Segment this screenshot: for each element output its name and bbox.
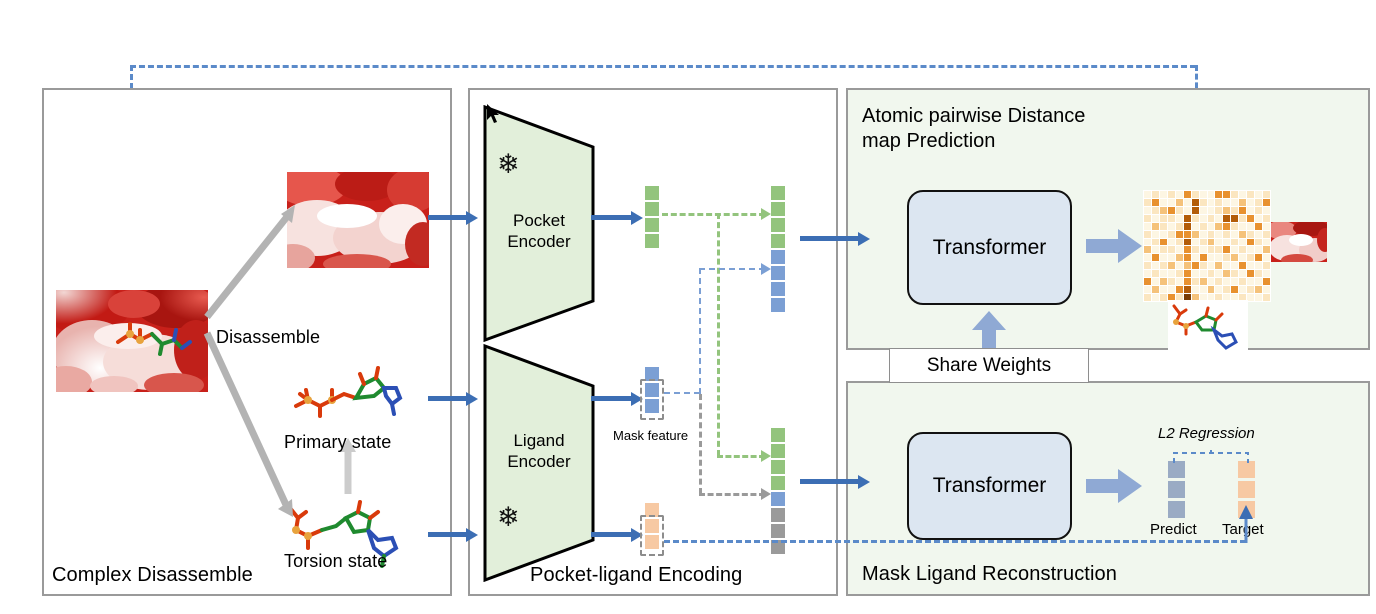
- heatmap-cell: [1144, 239, 1151, 246]
- heatmap-cell: [1231, 278, 1238, 285]
- heatmap-cell: [1215, 270, 1222, 277]
- heatmap-cell: [1176, 199, 1183, 206]
- heatmap-cell: [1208, 278, 1215, 285]
- heatmap-cell: [1184, 246, 1191, 253]
- l2-regression-bracket: [1170, 447, 1252, 465]
- heatmap-cell: [1247, 246, 1254, 253]
- dash-arrowhead: [761, 208, 771, 220]
- heatmap-cell: [1152, 254, 1159, 261]
- heatmap-cell: [1255, 278, 1262, 285]
- heatmap-cell: [1263, 270, 1270, 277]
- heatmap-cell: [1247, 286, 1254, 293]
- heatmap-cell: [1223, 270, 1230, 277]
- heatmap-cell: [1200, 270, 1207, 277]
- heatmap-cell: [1263, 262, 1270, 269]
- heatmap-cell: [1160, 215, 1167, 222]
- predict-stack: [1168, 461, 1185, 521]
- heatmap-cell: [1168, 215, 1175, 222]
- heatmap-cell: [1176, 231, 1183, 238]
- heatmap-cell: [1144, 294, 1151, 301]
- heatmap-cell: [1215, 239, 1222, 246]
- heatmap-cell: [1176, 254, 1183, 261]
- heatmap-cell: [1247, 231, 1254, 238]
- heatmap-cell: [1168, 223, 1175, 230]
- heatmap-cell: [1200, 262, 1207, 269]
- heatmap-cell: [1247, 215, 1254, 222]
- heatmap-cell: [1144, 191, 1151, 198]
- panel-complex-disassemble-label: Complex Disassemble: [52, 564, 253, 587]
- dash-gray-vertical: [699, 394, 702, 494]
- heatmap-cell: [1263, 254, 1270, 261]
- heatmap-cell: [1263, 278, 1270, 285]
- heatmap-cell: [1231, 270, 1238, 277]
- heatmap-cell: [1263, 223, 1270, 230]
- distance-transformer-label: Transformer: [933, 236, 1047, 260]
- heatmap-cell: [1231, 207, 1238, 214]
- heatmap-cell: [1208, 215, 1215, 222]
- arrow-transformer-to-predict: [1086, 468, 1142, 504]
- predict-token: [1168, 481, 1185, 498]
- feature-token: [771, 476, 785, 490]
- heatmap-cell: [1160, 294, 1167, 301]
- heatmap-cell: [1223, 286, 1230, 293]
- heatmap-cell: [1255, 286, 1262, 293]
- heatmap-cell: [1144, 262, 1151, 269]
- heatmap-cell: [1152, 215, 1159, 222]
- heatmap-cell: [1160, 199, 1167, 206]
- heatmap-cell: [1200, 215, 1207, 222]
- heatmap-cell: [1239, 223, 1246, 230]
- heatmap-cell: [1168, 254, 1175, 261]
- feature-token: [645, 218, 659, 232]
- heatmap-cell: [1223, 239, 1230, 246]
- heatmap-cell: [1239, 215, 1246, 222]
- heatmap-cell: [1144, 286, 1151, 293]
- heatmap-cell: [1184, 215, 1191, 222]
- heatmap-cell: [1223, 223, 1230, 230]
- heatmap-cell: [1255, 207, 1262, 214]
- dash-mask-to-distance: [699, 268, 765, 270]
- feature-token: [771, 218, 785, 232]
- heatmap-cell: [1231, 191, 1238, 198]
- feature-token: [771, 524, 785, 538]
- snowflake-icon: ❄: [497, 504, 520, 531]
- ligand-encoder-label: Ligand Encoder: [483, 430, 595, 472]
- heatmap-cell: [1247, 223, 1254, 230]
- heatmap-cell: [1184, 278, 1191, 285]
- heatmap-cell: [1192, 191, 1199, 198]
- heatmap-cell: [1255, 246, 1262, 253]
- heatmap-cell: [1239, 246, 1246, 253]
- heatmap-cell: [1215, 231, 1222, 238]
- disassemble-label: Disassemble: [216, 327, 320, 348]
- heatmap-cell: [1255, 262, 1262, 269]
- heatmap-cell: [1168, 246, 1175, 253]
- heatmap-cell: [1200, 207, 1207, 214]
- heatmap-cell: [1200, 239, 1207, 246]
- heatmap-cell: [1192, 199, 1199, 206]
- heatmap-cell: [1231, 215, 1238, 222]
- ligand-encoder[interactable]: Ligand Encoder ❄: [483, 342, 595, 582]
- pocket-encoder-label: Pocket Encoder: [483, 210, 595, 252]
- heatmap-cell: [1184, 270, 1191, 277]
- mask-feature-label: Mask feature: [613, 428, 688, 443]
- pocket-encoder[interactable]: ❄ Pocket Encoder: [483, 105, 595, 342]
- heatmap-cell: [1144, 231, 1151, 238]
- heatmap-cell: [1208, 191, 1215, 198]
- heatmap-cell: [1247, 207, 1254, 214]
- heatmap-cell: [1168, 191, 1175, 198]
- heatmap-cell: [1176, 278, 1183, 285]
- share-weights-box: Share Weights: [889, 348, 1089, 383]
- dash-pocket-to-reconstruction: [717, 455, 765, 458]
- heatmap-cell: [1200, 191, 1207, 198]
- feature-token: [771, 444, 785, 458]
- heatmap-cell: [1208, 254, 1215, 261]
- heatmap-cell: [1215, 215, 1222, 222]
- heatmap-cell: [1215, 278, 1222, 285]
- primary-state-ligand: [288, 362, 408, 434]
- heatmap-cell: [1152, 270, 1159, 277]
- torsion-feature-outline: [640, 515, 664, 556]
- heatmap-cell: [1184, 223, 1191, 230]
- heatmap-cell: [1152, 207, 1159, 214]
- heatmap-cell: [1247, 294, 1254, 301]
- heatmap-cell: [1231, 199, 1238, 206]
- heatmap-cell: [1160, 246, 1167, 253]
- heatmap-cell: [1263, 294, 1270, 301]
- heatmap-cell: [1152, 231, 1159, 238]
- heatmap-cell: [1215, 199, 1222, 206]
- ligand-thumbnail: [1168, 300, 1248, 352]
- arrow-share-weights-up: [972, 311, 1006, 349]
- heatmap-cell: [1192, 286, 1199, 293]
- heatmap-cell: [1239, 191, 1246, 198]
- heatmap-cell: [1223, 231, 1230, 238]
- heatmap-cell: [1184, 286, 1191, 293]
- heatmap-cell: [1255, 294, 1262, 301]
- figure-canvas: Complex Disassemble: [0, 0, 1376, 614]
- pocket-thumbnail: [1271, 222, 1327, 262]
- heatmap-cell: [1184, 254, 1191, 261]
- feature-token: [771, 266, 785, 280]
- dash-arrowhead: [761, 488, 771, 500]
- pocket-feature-stack: [645, 186, 659, 250]
- feature-token: [645, 234, 659, 248]
- heatmap-cell: [1255, 223, 1262, 230]
- predict-token: [1168, 501, 1185, 518]
- heatmap-cell: [1263, 246, 1270, 253]
- panel-distance-map-prediction-title: Atomic pairwise Distance map Prediction: [862, 104, 1182, 154]
- feature-token: [771, 460, 785, 474]
- heatmap-cell: [1192, 239, 1199, 246]
- heatmap-cell: [1160, 191, 1167, 198]
- heatmap-cell: [1176, 286, 1183, 293]
- heatmap-cell: [1223, 191, 1230, 198]
- heatmap-cell: [1208, 223, 1215, 230]
- heatmap-cell: [1255, 254, 1262, 261]
- heatmap-cell: [1168, 278, 1175, 285]
- heatmap-cell: [1223, 246, 1230, 253]
- heatmap-cell: [1263, 215, 1270, 222]
- panel-mask-ligand-reconstruction-label: Mask Ligand Reconstruction: [862, 563, 1117, 586]
- heatmap-cell: [1208, 246, 1215, 253]
- heatmap-cell: [1255, 215, 1262, 222]
- heatmap-cell: [1184, 191, 1191, 198]
- heatmap-cell: [1255, 191, 1262, 198]
- feature-token: [771, 298, 785, 312]
- heatmap-cell: [1239, 270, 1246, 277]
- target-token: [1238, 481, 1255, 498]
- disassemble-arrow-up: [195, 195, 305, 325]
- heatmap-cell: [1168, 286, 1175, 293]
- heatmap-cell: [1200, 223, 1207, 230]
- heatmap-cell: [1200, 286, 1207, 293]
- heatmap-cell: [1200, 246, 1207, 253]
- dash-mask-riser: [699, 268, 701, 394]
- heatmap-cell: [1144, 199, 1151, 206]
- heatmap-cell: [1255, 239, 1262, 246]
- feature-token: [645, 202, 659, 216]
- heatmap-cell: [1160, 270, 1167, 277]
- heatmap-cell: [1215, 262, 1222, 269]
- heatmap-cell: [1168, 239, 1175, 246]
- feature-token: [771, 250, 785, 264]
- heatmap-cell: [1255, 231, 1262, 238]
- heatmap-cell: [1215, 246, 1222, 253]
- feedback-dash-top-horizontal: [130, 65, 1196, 68]
- heatmap-cell: [1231, 254, 1238, 261]
- heatmap-cell: [1176, 262, 1183, 269]
- feature-token: [771, 428, 785, 442]
- heatmap-cell: [1263, 239, 1270, 246]
- heatmap-cell: [1239, 207, 1246, 214]
- primary-state-label: Primary state: [284, 432, 391, 453]
- distance-map-heatmap: [1143, 190, 1271, 302]
- heatmap-cell: [1247, 262, 1254, 269]
- heatmap-cell: [1152, 199, 1159, 206]
- heatmap-cell: [1223, 278, 1230, 285]
- heatmap-cell: [1176, 215, 1183, 222]
- heatmap-cell: [1215, 286, 1222, 293]
- heatmap-cell: [1208, 199, 1215, 206]
- feature-token: [771, 202, 785, 216]
- heatmap-cell: [1231, 231, 1238, 238]
- dash-mask-to-riser: [664, 392, 700, 394]
- heatmap-cell: [1168, 262, 1175, 269]
- heatmap-cell: [1160, 286, 1167, 293]
- heatmap-cell: [1215, 254, 1222, 261]
- heatmap-cell: [1223, 207, 1230, 214]
- torsion-state-label: Torsion state: [284, 551, 387, 572]
- feature-token: [771, 282, 785, 296]
- dash-pocket-to-distance: [662, 213, 765, 216]
- heatmap-cell: [1152, 191, 1159, 198]
- heatmap-cell: [1231, 286, 1238, 293]
- heatmap-cell: [1247, 191, 1254, 198]
- heatmap-cell: [1168, 207, 1175, 214]
- feature-token: [645, 186, 659, 200]
- heatmap-cell: [1152, 286, 1159, 293]
- dash-gray-to-reconstruction: [699, 493, 765, 496]
- heatmap-cell: [1184, 262, 1191, 269]
- heatmap-cell: [1192, 270, 1199, 277]
- heatmap-cell: [1160, 223, 1167, 230]
- dash-pocket-branch-vertical: [717, 213, 720, 456]
- heatmap-cell: [1152, 278, 1159, 285]
- heatmap-cell: [1223, 262, 1230, 269]
- heatmap-cell: [1152, 294, 1159, 301]
- heatmap-cell: [1168, 270, 1175, 277]
- heatmap-cell: [1192, 246, 1199, 253]
- heatmap-cell: [1176, 239, 1183, 246]
- heatmap-cell: [1231, 246, 1238, 253]
- heatmap-cell: [1255, 199, 1262, 206]
- dash-target-arrow: [1239, 505, 1253, 543]
- heatmap-cell: [1247, 278, 1254, 285]
- heatmap-cell: [1215, 223, 1222, 230]
- heatmap-cell: [1192, 231, 1199, 238]
- heatmap-cell: [1200, 254, 1207, 261]
- snowflake-icon: ❄: [497, 151, 520, 178]
- disassemble-arrow-down: [195, 325, 305, 525]
- reconstruction-transformer[interactable]: Transformer: [907, 432, 1072, 540]
- arrow-transformer-to-heatmap: [1086, 228, 1142, 264]
- predict-label: Predict: [1150, 521, 1197, 538]
- heatmap-cell: [1152, 223, 1159, 230]
- heatmap-cell: [1239, 262, 1246, 269]
- heatmap-cell: [1239, 199, 1246, 206]
- heatmap-cell: [1160, 239, 1167, 246]
- heatmap-cell: [1152, 262, 1159, 269]
- heatmap-cell: [1152, 239, 1159, 246]
- heatmap-cell: [1144, 215, 1151, 222]
- heatmap-cell: [1192, 262, 1199, 269]
- heatmap-cell: [1168, 231, 1175, 238]
- heatmap-cell: [1160, 278, 1167, 285]
- feature-token: [771, 508, 785, 522]
- heatmap-cell: [1200, 199, 1207, 206]
- dash-arrowhead: [761, 263, 771, 275]
- heatmap-cell: [1152, 246, 1159, 253]
- mask-feature-outline: [640, 379, 664, 420]
- feature-token: [771, 186, 785, 200]
- heatmap-cell: [1192, 278, 1199, 285]
- heatmap-cell: [1144, 246, 1151, 253]
- heatmap-cell: [1176, 223, 1183, 230]
- heatmap-cell: [1168, 199, 1175, 206]
- pocket-image: [287, 172, 429, 268]
- heatmap-cell: [1263, 286, 1270, 293]
- heatmap-cell: [1263, 231, 1270, 238]
- heatmap-cell: [1231, 239, 1238, 246]
- heatmap-cell: [1184, 231, 1191, 238]
- heatmap-cell: [1263, 191, 1270, 198]
- heatmap-cell: [1215, 207, 1222, 214]
- mouse-cursor: [487, 104, 501, 124]
- heatmap-cell: [1192, 254, 1199, 261]
- heatmap-cell: [1247, 239, 1254, 246]
- heatmap-cell: [1184, 239, 1191, 246]
- heatmap-cell: [1144, 207, 1151, 214]
- heatmap-cell: [1144, 223, 1151, 230]
- heatmap-cell: [1160, 207, 1167, 214]
- feature-token: [771, 234, 785, 248]
- heatmap-cell: [1231, 262, 1238, 269]
- heatmap-cell: [1176, 191, 1183, 198]
- heatmap-cell: [1231, 223, 1238, 230]
- heatmap-cell: [1192, 215, 1199, 222]
- distance-input-stack: [771, 186, 785, 314]
- heatmap-cell: [1208, 270, 1215, 277]
- heatmap-cell: [1239, 231, 1246, 238]
- feature-token: [771, 492, 785, 506]
- heatmap-cell: [1239, 239, 1246, 246]
- heatmap-cell: [1176, 207, 1183, 214]
- heatmap-cell: [1239, 286, 1246, 293]
- heatmap-cell: [1160, 231, 1167, 238]
- heatmap-cell: [1239, 254, 1246, 261]
- l2-regression-label: L2 Regression: [1158, 425, 1255, 442]
- heatmap-cell: [1215, 191, 1222, 198]
- reconstruction-input-stack: [771, 428, 785, 556]
- heatmap-cell: [1255, 270, 1262, 277]
- heatmap-cell: [1144, 278, 1151, 285]
- heatmap-cell: [1192, 223, 1199, 230]
- heatmap-cell: [1144, 254, 1151, 261]
- heatmap-cell: [1208, 286, 1215, 293]
- heatmap-cell: [1208, 239, 1215, 246]
- heatmap-cell: [1223, 199, 1230, 206]
- heatmap-cell: [1160, 262, 1167, 269]
- distance-transformer[interactable]: Transformer: [907, 190, 1072, 305]
- heatmap-cell: [1184, 199, 1191, 206]
- heatmap-cell: [1192, 207, 1199, 214]
- heatmap-cell: [1239, 278, 1246, 285]
- heatmap-cell: [1200, 278, 1207, 285]
- share-weights-label: Share Weights: [927, 355, 1051, 377]
- heatmap-cell: [1263, 199, 1270, 206]
- complex-image: [56, 290, 208, 392]
- heatmap-cell: [1176, 270, 1183, 277]
- heatmap-cell: [1247, 254, 1254, 261]
- dash-torsion-to-target: [664, 540, 1246, 543]
- heatmap-cell: [1263, 207, 1270, 214]
- heatmap-cell: [1223, 254, 1230, 261]
- heatmap-cell: [1144, 270, 1151, 277]
- heatmap-cell: [1247, 199, 1254, 206]
- heatmap-cell: [1184, 207, 1191, 214]
- dash-arrowhead: [761, 450, 771, 462]
- heatmap-cell: [1208, 262, 1215, 269]
- heatmap-cell: [1208, 207, 1215, 214]
- heatmap-cell: [1160, 254, 1167, 261]
- heatmap-cell: [1176, 246, 1183, 253]
- heatmap-cell: [1223, 215, 1230, 222]
- heatmap-cell: [1208, 231, 1215, 238]
- heatmap-cell: [1200, 231, 1207, 238]
- heatmap-cell: [1247, 270, 1254, 277]
- reconstruction-transformer-label: Transformer: [933, 474, 1047, 498]
